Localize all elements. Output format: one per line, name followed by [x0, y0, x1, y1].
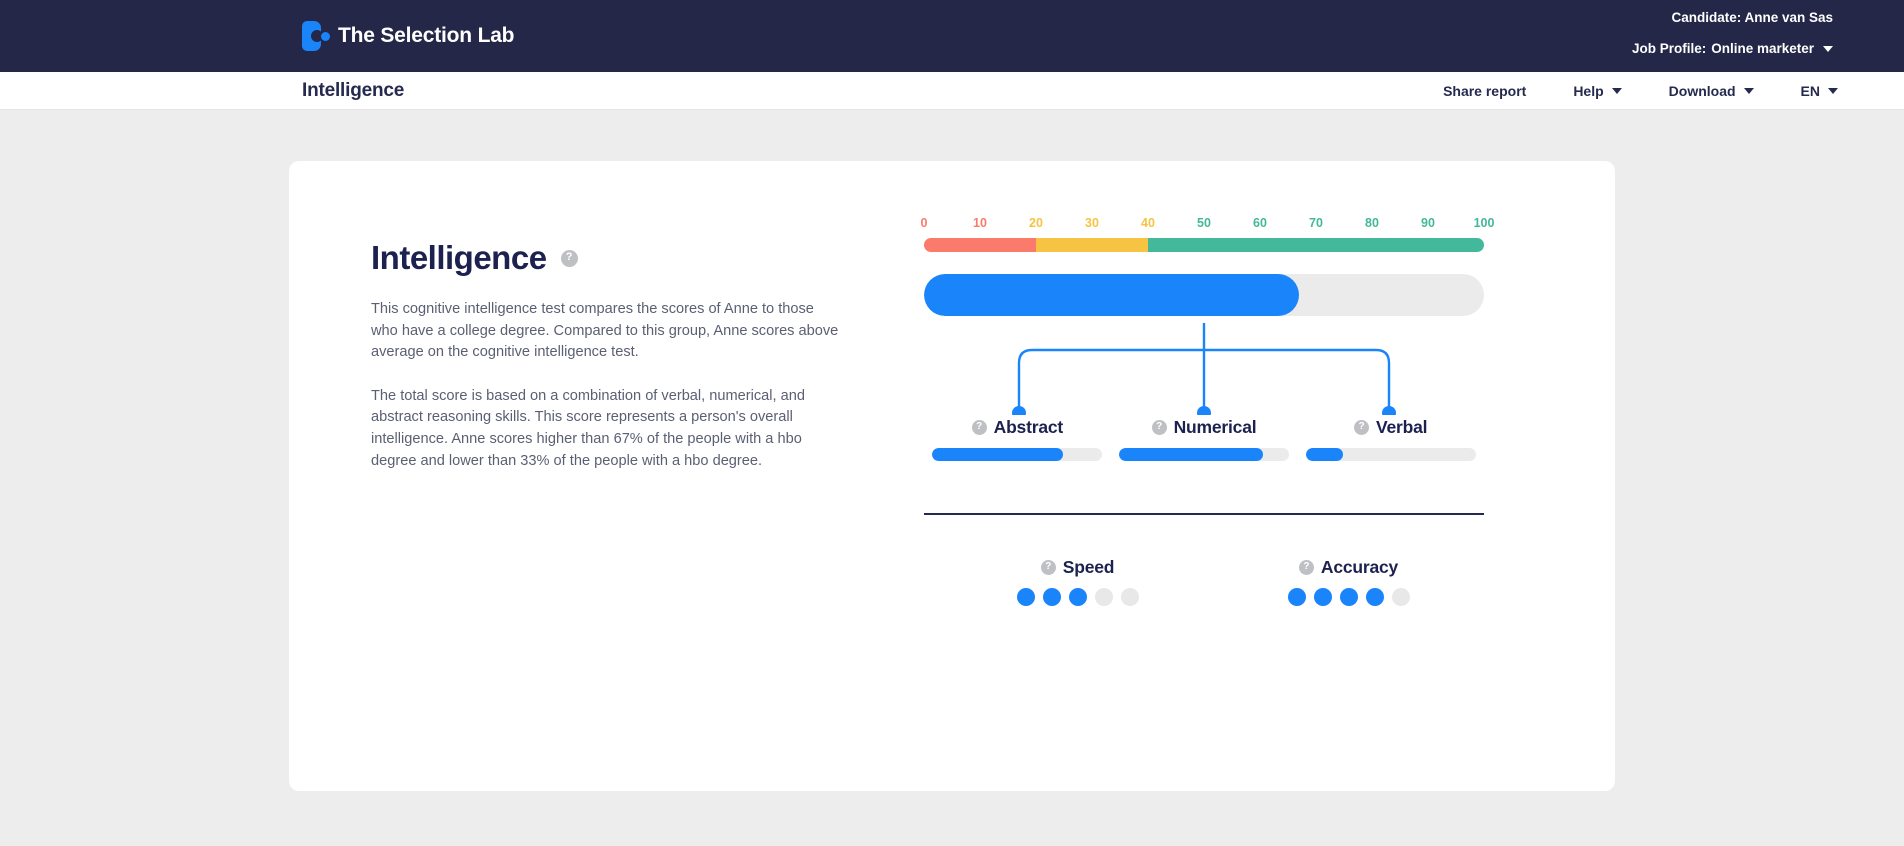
- scale-tick-60: 60: [1253, 216, 1267, 230]
- subscale-track: [1119, 448, 1289, 461]
- brand-logo[interactable]: The Selection Lab: [302, 21, 514, 51]
- dot-filled: [1366, 588, 1384, 606]
- question-mark-icon[interactable]: ?: [1152, 420, 1167, 435]
- subscale-fill: [1119, 448, 1264, 461]
- question-mark-icon[interactable]: ?: [1299, 560, 1314, 575]
- page-background: Intelligence ? This cognitive intelligen…: [0, 110, 1904, 845]
- dot-empty: [1095, 588, 1113, 606]
- dot-empty: [1392, 588, 1410, 606]
- download-menu[interactable]: Download: [1669, 83, 1754, 99]
- scale-tick-100: 100: [1474, 216, 1495, 230]
- description-paragraph-2: The total score is based on a combinatio…: [371, 386, 841, 472]
- subscale-abstract: ?Abstract: [924, 417, 1111, 461]
- dot-empty: [1121, 588, 1139, 606]
- language-menu[interactable]: EN: [1801, 83, 1838, 99]
- dot-row: [1017, 588, 1139, 606]
- help-menu[interactable]: Help: [1573, 83, 1621, 99]
- connector-lines-icon: [924, 323, 1484, 415]
- subscale-label-row: ?Numerical: [1152, 417, 1257, 438]
- subscale-fill: [932, 448, 1063, 461]
- chevron-down-icon: [1828, 88, 1838, 94]
- dot-filled: [1017, 588, 1035, 606]
- dot-metric-accuracy: ?Accuracy: [1213, 557, 1484, 606]
- dot-filled: [1314, 588, 1332, 606]
- question-mark-icon[interactable]: ?: [1041, 560, 1056, 575]
- question-mark-icon[interactable]: ?: [1354, 420, 1369, 435]
- job-profile-label: Job Profile:: [1632, 39, 1706, 59]
- job-profile-value: Online marketer: [1711, 39, 1814, 59]
- chevron-down-icon: [1744, 88, 1754, 94]
- chevron-down-icon: [1823, 46, 1833, 52]
- question-mark-icon[interactable]: ?: [972, 420, 987, 435]
- scale-tick-30: 30: [1085, 216, 1099, 230]
- subscale-numerical: ?Numerical: [1111, 417, 1298, 461]
- subscale-track: [932, 448, 1102, 461]
- subscale-name: Numerical: [1174, 417, 1257, 438]
- norm-band-bar: [924, 238, 1484, 252]
- share-report-button[interactable]: Share report: [1443, 83, 1526, 99]
- subscale-track: [1306, 448, 1476, 461]
- chevron-down-icon: [1612, 88, 1622, 94]
- norm-band-average: [1036, 238, 1148, 252]
- scale-tick-50: 50: [1197, 216, 1211, 230]
- dot-metric-speed: ?Speed: [942, 557, 1213, 606]
- sub-nav-bar: Intelligence Share report Help Download …: [0, 72, 1904, 110]
- dot-filled: [1043, 588, 1061, 606]
- dot-filled: [1069, 588, 1087, 606]
- section-title: Intelligence: [371, 239, 547, 277]
- section-divider: [924, 513, 1484, 515]
- scale-tick-labels: 0102030405060708090100: [924, 216, 1484, 234]
- scale-tick-80: 80: [1365, 216, 1379, 230]
- dot-metric-name: Accuracy: [1321, 557, 1398, 578]
- scale-tick-20: 20: [1029, 216, 1043, 230]
- norm-band-high: [1148, 238, 1484, 252]
- help-label: Help: [1573, 83, 1603, 99]
- candidate-info: Candidate: Anne van Sas Job Profile: Onl…: [1632, 8, 1833, 60]
- question-mark-icon[interactable]: ?: [561, 250, 578, 267]
- scale-tick-70: 70: [1309, 216, 1323, 230]
- selection-lab-logo-icon: [302, 21, 329, 51]
- download-label: Download: [1669, 83, 1736, 99]
- subscale-label-row: ?Verbal: [1354, 417, 1427, 438]
- subscale-connector: [924, 323, 1484, 415]
- scale-tick-10: 10: [973, 216, 987, 230]
- language-label: EN: [1801, 83, 1820, 99]
- share-report-label: Share report: [1443, 83, 1526, 99]
- total-score-track: [924, 274, 1484, 316]
- dot-metric-name: Speed: [1063, 557, 1115, 578]
- score-visualization: 0102030405060708090100 ?Abstract?Numeric…: [924, 216, 1484, 606]
- description-paragraph-1: This cognitive intelligence test compare…: [371, 299, 841, 364]
- top-bar: The Selection Lab Candidate: Anne van Sa…: [0, 0, 1904, 72]
- candidate-line: Candidate: Anne van Sas: [1632, 8, 1833, 28]
- dot-filled: [1288, 588, 1306, 606]
- section-heading: Intelligence ?: [371, 239, 841, 277]
- subscale-name: Verbal: [1376, 417, 1427, 438]
- subscale-list: ?Abstract?Numerical?Verbal: [924, 417, 1484, 461]
- dot-row: [1288, 588, 1410, 606]
- norm-band-low: [924, 238, 1036, 252]
- subscale-verbal: ?Verbal: [1297, 417, 1484, 461]
- report-card: Intelligence ? This cognitive intelligen…: [289, 161, 1615, 791]
- sub-nav-actions: Share report Help Download EN: [1443, 83, 1838, 99]
- subscale-fill: [1306, 448, 1343, 461]
- dot-filled: [1340, 588, 1358, 606]
- dot-metric-label-row: ?Accuracy: [1299, 557, 1398, 578]
- brand-name: The Selection Lab: [338, 24, 514, 48]
- subscale-name: Abstract: [994, 417, 1063, 438]
- dot-metric-label-row: ?Speed: [1041, 557, 1115, 578]
- total-score-fill: [924, 274, 1299, 316]
- scale-tick-90: 90: [1421, 216, 1435, 230]
- subscale-label-row: ?Abstract: [972, 417, 1063, 438]
- scale-tick-40: 40: [1141, 216, 1155, 230]
- dot-metric-list: ?Speed?Accuracy: [924, 557, 1484, 606]
- scale-tick-0: 0: [921, 216, 928, 230]
- description-column: Intelligence ? This cognitive intelligen…: [371, 239, 841, 472]
- page-title: Intelligence: [302, 80, 404, 102]
- job-profile-selector[interactable]: Job Profile: Online marketer: [1632, 39, 1833, 59]
